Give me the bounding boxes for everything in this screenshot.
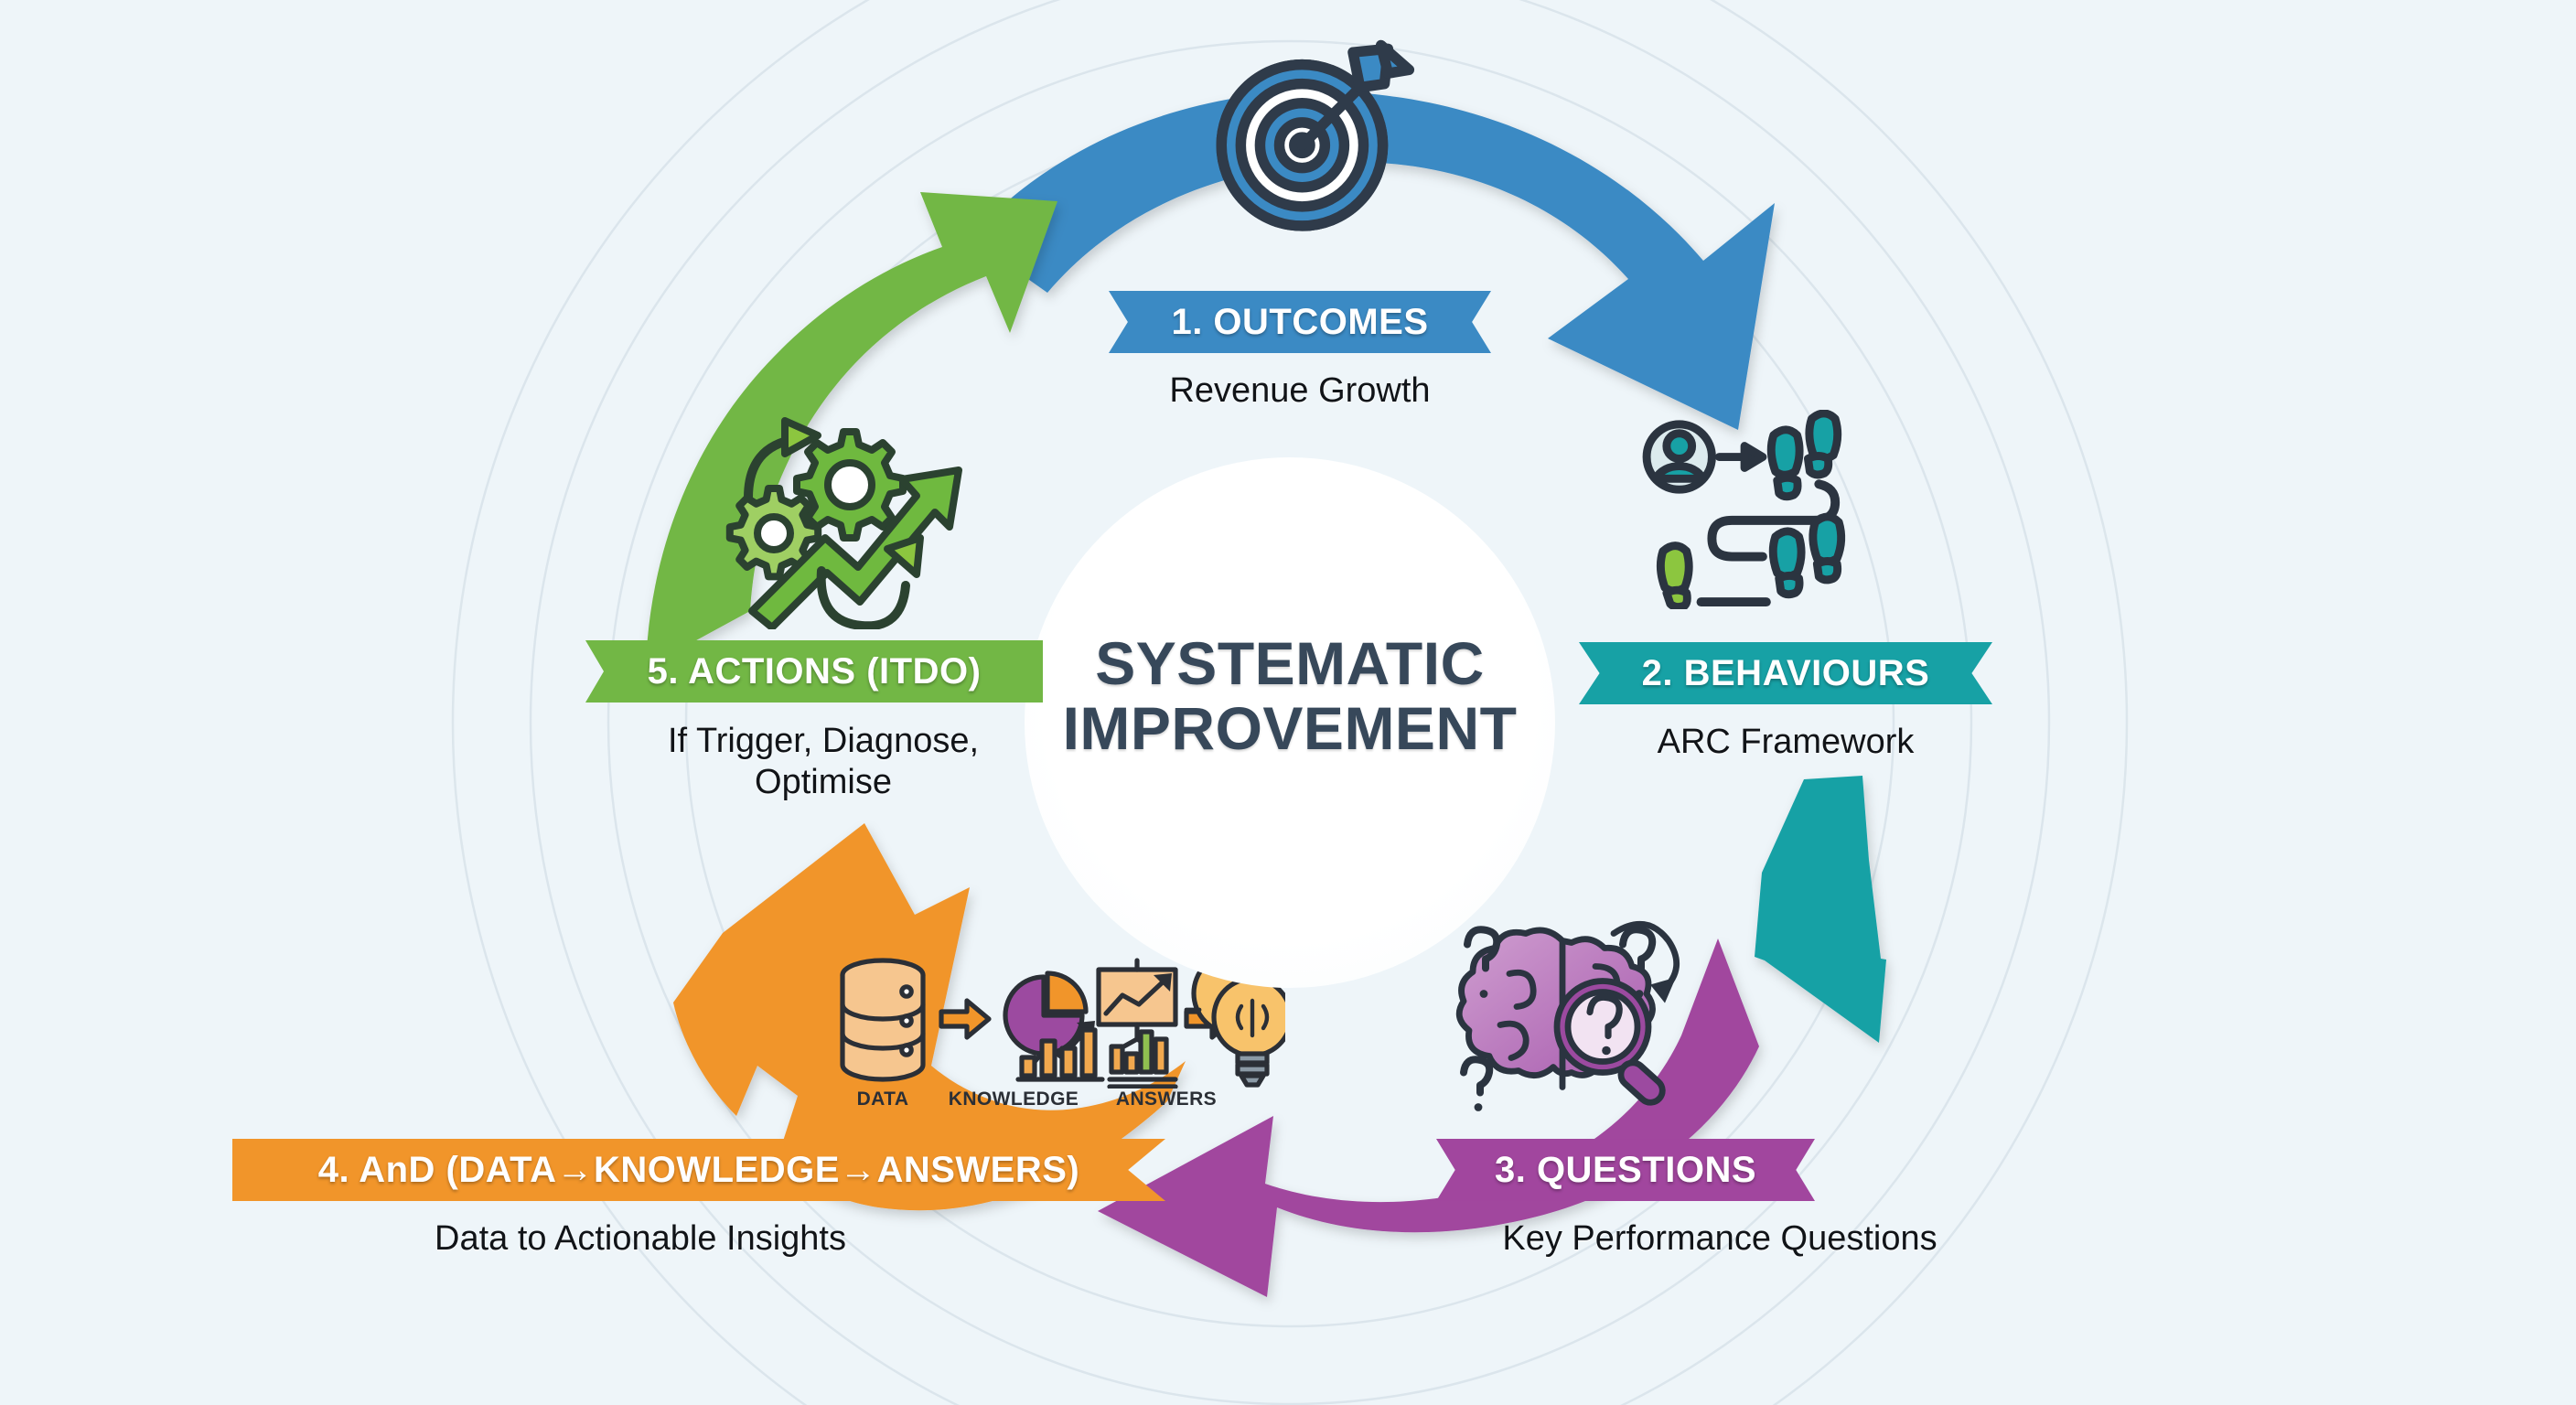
and-caption-data: DATA — [828, 1089, 938, 1110]
infographic-canvas: DATA KNOWLEDGE ANSWERS SYSTEMATIC IMPROV… — [0, 0, 2576, 1405]
banner-outcomes-label: 1. OUTCOMES — [1171, 302, 1428, 343]
subtitle-questions: Key Performance Questions — [1372, 1218, 2067, 1260]
arrow-behaviours-to-questions — [1755, 776, 1886, 1043]
and-caption-answers: ANSWERS — [1093, 1089, 1240, 1110]
banner-actions[interactable]: 5. ACTIONS (ITDO) — [585, 640, 1043, 702]
banner-behaviours-label: 2. BEHAVIOURS — [1642, 653, 1930, 694]
user-footsteps-path-icon — [1636, 410, 1872, 609]
and-caption-knowledge: KNOWLEDGE — [936, 1089, 1091, 1110]
target-arrow-icon — [1206, 35, 1416, 245]
subtitle-behaviours: ARC Framework — [1579, 722, 1992, 763]
banner-outcomes[interactable]: 1. OUTCOMES — [1109, 291, 1491, 353]
banner-behaviours[interactable]: 2. BEHAVIOURS — [1579, 642, 1992, 704]
gears-growth-arrow-icon — [712, 410, 977, 629]
banner-and-label: 4. AnD (DATA→KNOWLEDGE→ANSWERS) — [318, 1150, 1080, 1191]
banner-actions-label: 5. ACTIONS (ITDO) — [648, 651, 982, 692]
brain-magnifier-question-icon — [1434, 911, 1700, 1117]
subtitle-and: Data to Actionable Insights — [274, 1218, 1006, 1260]
page-title: SYSTEMATIC IMPROVEMENT — [1002, 631, 1578, 760]
subtitle-actions: If Trigger, Diagnose, Optimise — [622, 721, 1025, 803]
subtitle-outcomes: Revenue Growth — [1109, 370, 1491, 412]
center-title-line2: IMPROVEMENT — [1002, 696, 1578, 761]
banner-questions[interactable]: 3. QUESTIONS — [1436, 1139, 1815, 1201]
banner-questions-label: 3. QUESTIONS — [1495, 1150, 1756, 1191]
center-title-line1: SYSTEMATIC — [1002, 631, 1578, 696]
banner-and[interactable]: 4. AnD (DATA→KNOWLEDGE→ANSWERS) — [232, 1139, 1165, 1201]
